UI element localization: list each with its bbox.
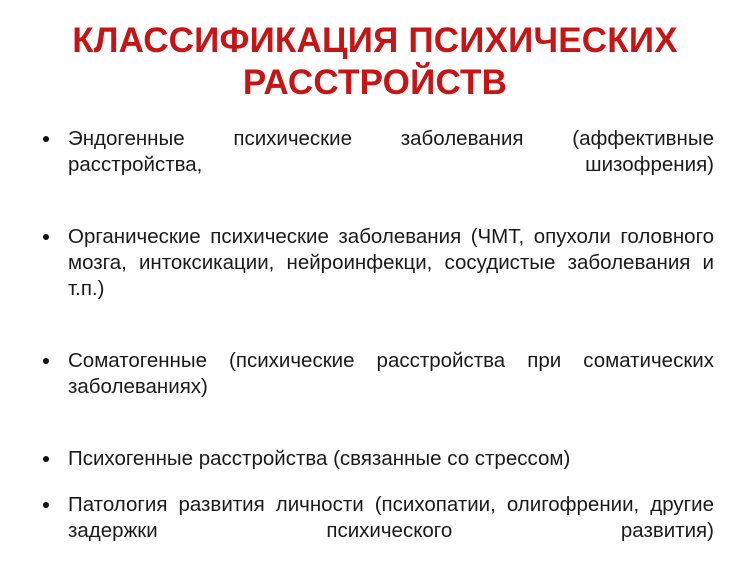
slide: КЛАССИФИКАЦИЯ ПСИХИЧЕСКИХ РАССТРОЙСТВ Эн… (0, 0, 750, 561)
bullet-point-icon (43, 502, 49, 508)
bullet-point-icon (43, 234, 49, 240)
list-item-label: Органические психические заболевания (ЧМ… (68, 224, 714, 328)
page-title: КЛАССИФИКАЦИЯ ПСИХИЧЕСКИХ РАССТРОЙСТВ (40, 20, 710, 104)
list-item: Эндогенные психические заболевания (аффе… (36, 126, 714, 204)
bullet-point-icon (43, 456, 49, 462)
page-title-line-1: КЛАССИФИКАЦИЯ ПСИХИЧЕСКИХ (40, 20, 710, 62)
list-item-label: Эндогенные психические заболевания (аффе… (68, 126, 714, 204)
list-item-label: Патология развития личности (психопатии,… (68, 492, 714, 570)
list-item-label: Соматогенные (психические расстройства п… (68, 348, 714, 426)
list-item: Патология развития личности (психопатии,… (36, 492, 714, 570)
list-item: Соматогенные (психические расстройства п… (36, 348, 714, 426)
list-item: Органические психические заболевания (ЧМ… (36, 224, 714, 328)
list-item: Психогенные расстройства (связанные со с… (36, 446, 714, 472)
disorder-classification-list: Эндогенные психические заболевания (аффе… (36, 126, 714, 570)
page-title-line-2: РАССТРОЙСТВ (40, 62, 710, 104)
bullet-point-icon (43, 358, 49, 364)
bullet-point-icon (43, 136, 49, 142)
list-item-label: Психогенные расстройства (связанные со с… (68, 446, 714, 472)
